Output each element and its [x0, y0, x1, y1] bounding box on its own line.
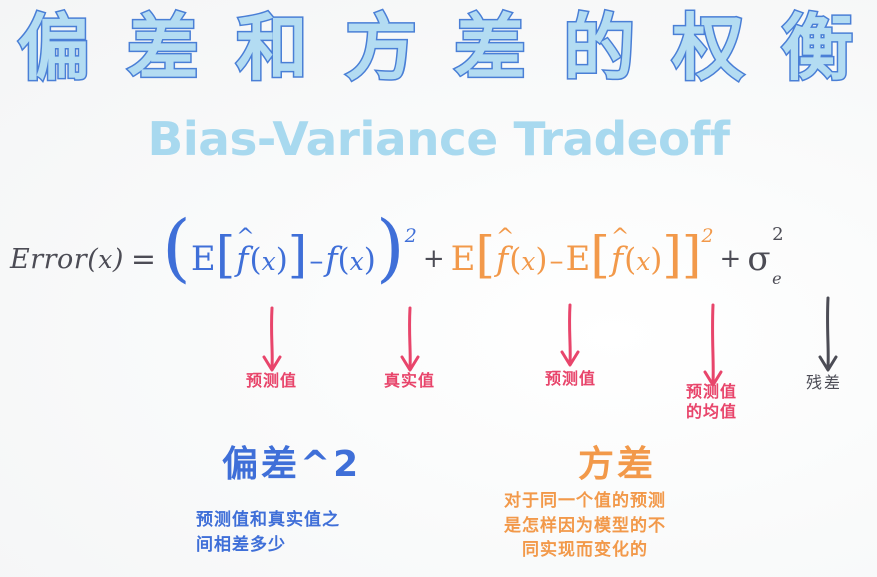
var-bracket-close-inner: ] — [662, 226, 682, 284]
hat-accent-icon: ^ — [236, 225, 254, 250]
bias-variance-formula: Error(x) = (E[^f(x)]–f(x))2 + E[^f(x)–E[… — [0, 214, 877, 304]
formula-lhs-paren-close: ) — [113, 244, 124, 275]
formula-irreducible-error: σ2e — [747, 239, 770, 279]
page-title-chinese: 偏 差 和 方 差 的 权 衡 — [0, 10, 877, 88]
annotation-line: 预测值 — [686, 382, 737, 402]
sigma-symbol: σ — [747, 239, 770, 279]
section-heading-bias: 偏差^2 — [222, 435, 361, 487]
formula-lhs-name: Error — [10, 244, 87, 275]
bias-ftrue-paren-close: ) — [364, 242, 376, 278]
bias-paren-close: ) — [376, 205, 405, 291]
annotation-label-pred-2: 预测值 — [545, 369, 596, 389]
whiteboard-canvas: 偏 差 和 方 差 的 权 衡 Bias-Variance Tradeoff E… — [0, 0, 877, 577]
section-body-line: 是怎样因为模型的不 — [504, 514, 666, 539]
annotation-label-pred-1: 预测值 — [246, 371, 297, 391]
bias-ftrue-x: x — [350, 247, 364, 276]
var-exponent: 2 — [701, 225, 713, 247]
formula-plus-1: + — [423, 244, 445, 274]
formula-bias-term: (E[^f(x)]–f(x))2 — [162, 239, 417, 279]
sigma-subscript: e — [772, 269, 781, 288]
annotation-line: 预测值 — [246, 371, 297, 391]
arrow-down-icon — [402, 308, 418, 370]
bias-exponent: 2 — [405, 225, 417, 247]
annotation-label-residual: 残差 — [806, 373, 842, 393]
annotation-line: 真实值 — [384, 371, 435, 391]
arrow-down-icon — [562, 305, 578, 365]
var-bracket-open-inner: [ — [590, 226, 610, 284]
bias-bracket-open: [ — [216, 226, 236, 284]
var-fhat2-paren-close: ) — [650, 242, 662, 278]
annotation-line: 的均值 — [686, 402, 737, 422]
bias-expectation: E — [191, 239, 216, 279]
page-subtitle-english: Bias-Variance Tradeoff — [0, 112, 877, 166]
formula-equals: = — [131, 242, 156, 277]
arrow-down-icon — [705, 305, 721, 385]
annotation-label-predmean: 预测值的均值 — [686, 382, 737, 422]
var-bracket-close-outer: ] — [682, 226, 702, 284]
formula-lhs-paren-open: ( — [87, 244, 98, 275]
var-expectation-outer: E — [451, 239, 476, 279]
section-body-line: 对于同一个值的预测 — [504, 489, 666, 514]
annotation-line: 残差 — [806, 373, 842, 393]
bias-fhat-paren-close: ) — [276, 242, 288, 278]
var-f-hat-1: ^f — [495, 239, 509, 278]
section-body-line: 间相差多少 — [196, 533, 340, 558]
var-expectation-inner: E — [566, 239, 591, 279]
bias-paren-open: ( — [162, 205, 191, 291]
section-body-line: 预测值和真实值之 — [196, 508, 340, 533]
var-minus: – — [550, 244, 564, 277]
bias-bracket-close: ] — [288, 226, 308, 284]
hat-accent-icon: ^ — [611, 225, 629, 250]
bias-ftrue-paren-open: ( — [338, 242, 350, 278]
bias-minus: – — [309, 244, 323, 277]
formula-variance-term: E[^f(x)–E[^f(x)]]2 — [451, 239, 714, 279]
formula-lhs: Error(x) — [10, 244, 124, 275]
var-fhat1-x: x — [521, 247, 535, 276]
bias-f-true: f — [325, 239, 337, 278]
section-heading-variance: 方差 — [578, 435, 656, 487]
annotation-label-true-1: 真实值 — [384, 371, 435, 391]
sigma-exponent: 2 — [772, 224, 783, 245]
bias-fhat-x: x — [262, 247, 276, 276]
section-body-line: 同实现而变化的 — [504, 538, 666, 563]
hat-accent-icon: ^ — [496, 225, 514, 250]
bias-f-hat: ^f — [235, 239, 249, 278]
var-bracket-open-outer: [ — [475, 226, 495, 284]
arrow-down-icon — [820, 298, 836, 370]
arrow-down-icon — [264, 308, 280, 370]
var-fhat1-paren-close: ) — [535, 242, 547, 278]
section-body-variance: 对于同一个值的预测是怎样因为模型的不同实现而变化的 — [504, 489, 666, 563]
section-body-bias: 预测值和真实值之间相差多少 — [196, 508, 340, 557]
var-fhat2-x: x — [636, 247, 650, 276]
annotation-line: 预测值 — [545, 369, 596, 389]
formula-lhs-arg: x — [98, 245, 113, 274]
var-f-hat-2: ^f — [610, 239, 624, 278]
formula-plus-2: + — [720, 244, 742, 274]
